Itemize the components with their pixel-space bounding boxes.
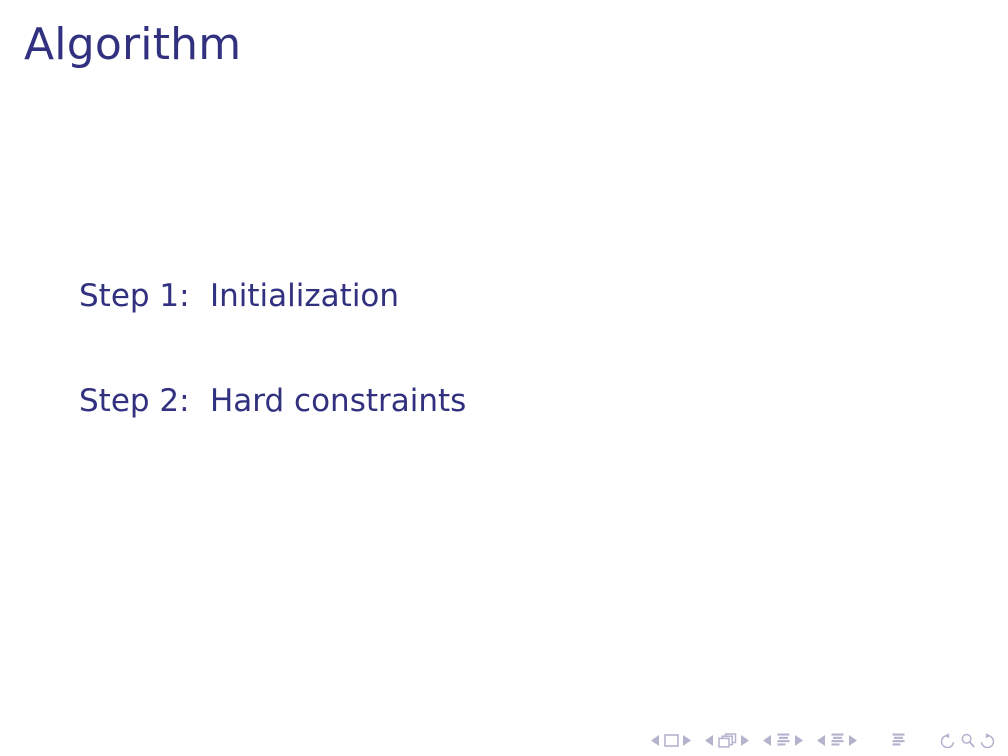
nav-group-subsection: [763, 733, 804, 748]
prev-slide-icon[interactable]: [651, 735, 660, 746]
prev-section-icon[interactable]: [817, 735, 826, 746]
list-item: Step 1: Initialization: [0, 276, 1008, 381]
slide-body: Step 1: Initialization Step 2: Hard cons…: [0, 276, 1008, 486]
beamer-slide: Algorithm Step 1: Initialization Step 2:…: [0, 0, 1008, 756]
nav-group-section: [817, 733, 858, 748]
page-title: Algorithm: [24, 22, 241, 68]
next-subsection-icon[interactable]: [795, 735, 804, 746]
frame-icon[interactable]: [718, 733, 737, 748]
forward-icon[interactable]: [979, 733, 996, 748]
prev-subsection-icon[interactable]: [763, 735, 772, 746]
next-section-icon[interactable]: [849, 735, 858, 746]
nav-group-presentation: [891, 733, 906, 748]
prev-frame-icon[interactable]: [705, 735, 714, 746]
section-icon[interactable]: [830, 733, 845, 748]
nav-group-frame: [705, 733, 750, 748]
next-slide-icon[interactable]: [683, 735, 692, 746]
back-icon[interactable]: [939, 733, 956, 748]
description-term: Step 1:: [79, 276, 190, 316]
nav-group-slide: [651, 734, 692, 747]
nav-group-history: [939, 733, 996, 748]
description-term: Step 2:: [79, 381, 190, 421]
search-icon[interactable]: [960, 733, 975, 748]
beamer-navigation-bar: [651, 733, 996, 748]
description-text: Hard constraints: [210, 381, 466, 421]
description-text: Initialization: [210, 276, 399, 316]
presentation-icon[interactable]: [891, 733, 906, 748]
subsection-icon[interactable]: [776, 733, 791, 748]
slide-icon[interactable]: [664, 734, 679, 747]
next-frame-icon[interactable]: [741, 735, 750, 746]
list-item: Step 2: Hard constraints: [0, 381, 1008, 486]
